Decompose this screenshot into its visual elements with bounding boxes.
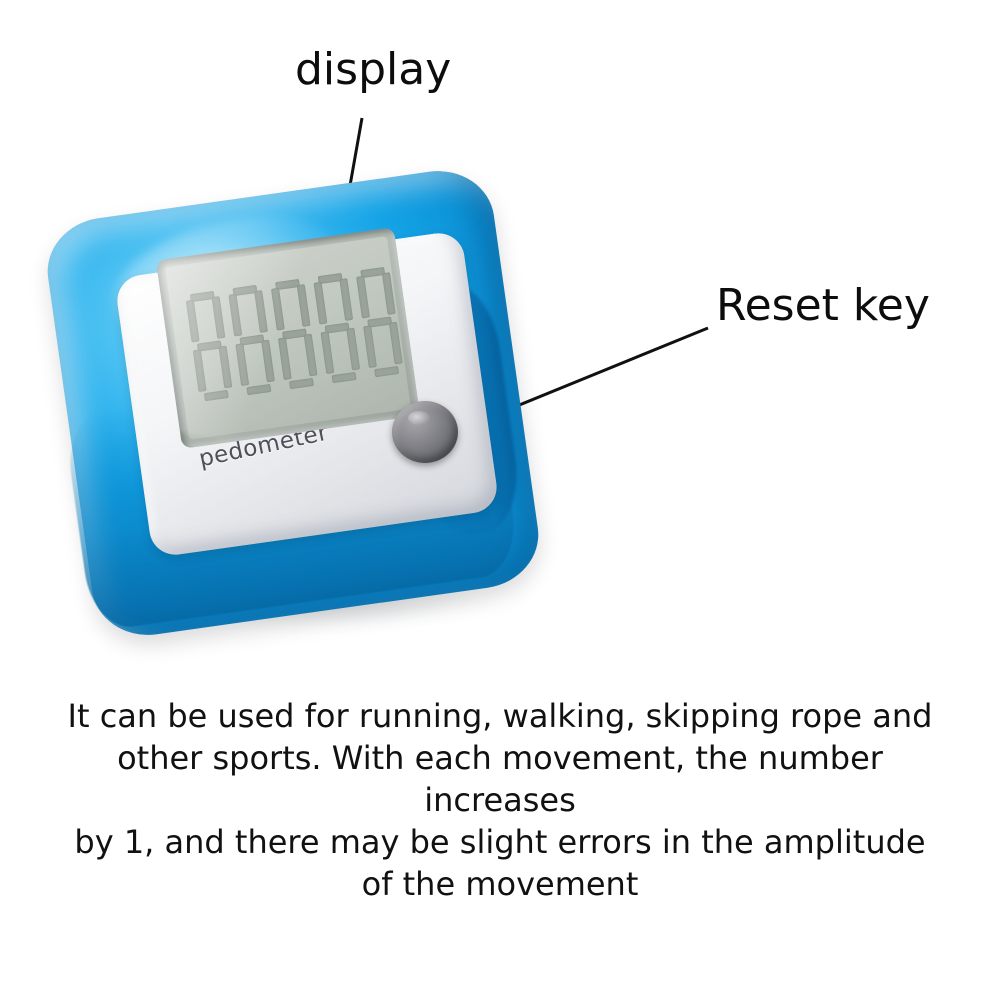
lcd-display <box>156 227 420 449</box>
description-line: of the movement <box>40 864 960 906</box>
reset-key-button[interactable] <box>392 401 458 463</box>
lcd-digit <box>355 266 404 378</box>
pedometer-device: pedometer <box>60 175 530 635</box>
annotation-label-display: display <box>295 48 451 92</box>
description-line: other sports. With each movement, the nu… <box>40 738 960 822</box>
description-line: by 1, and there may be slight errors in … <box>40 822 960 864</box>
annotation-label-reset-key: Reset key <box>716 284 930 328</box>
product-description: It can be used for running, walking, ski… <box>40 696 960 906</box>
description-line: It can be used for running, walking, ski… <box>40 696 960 738</box>
